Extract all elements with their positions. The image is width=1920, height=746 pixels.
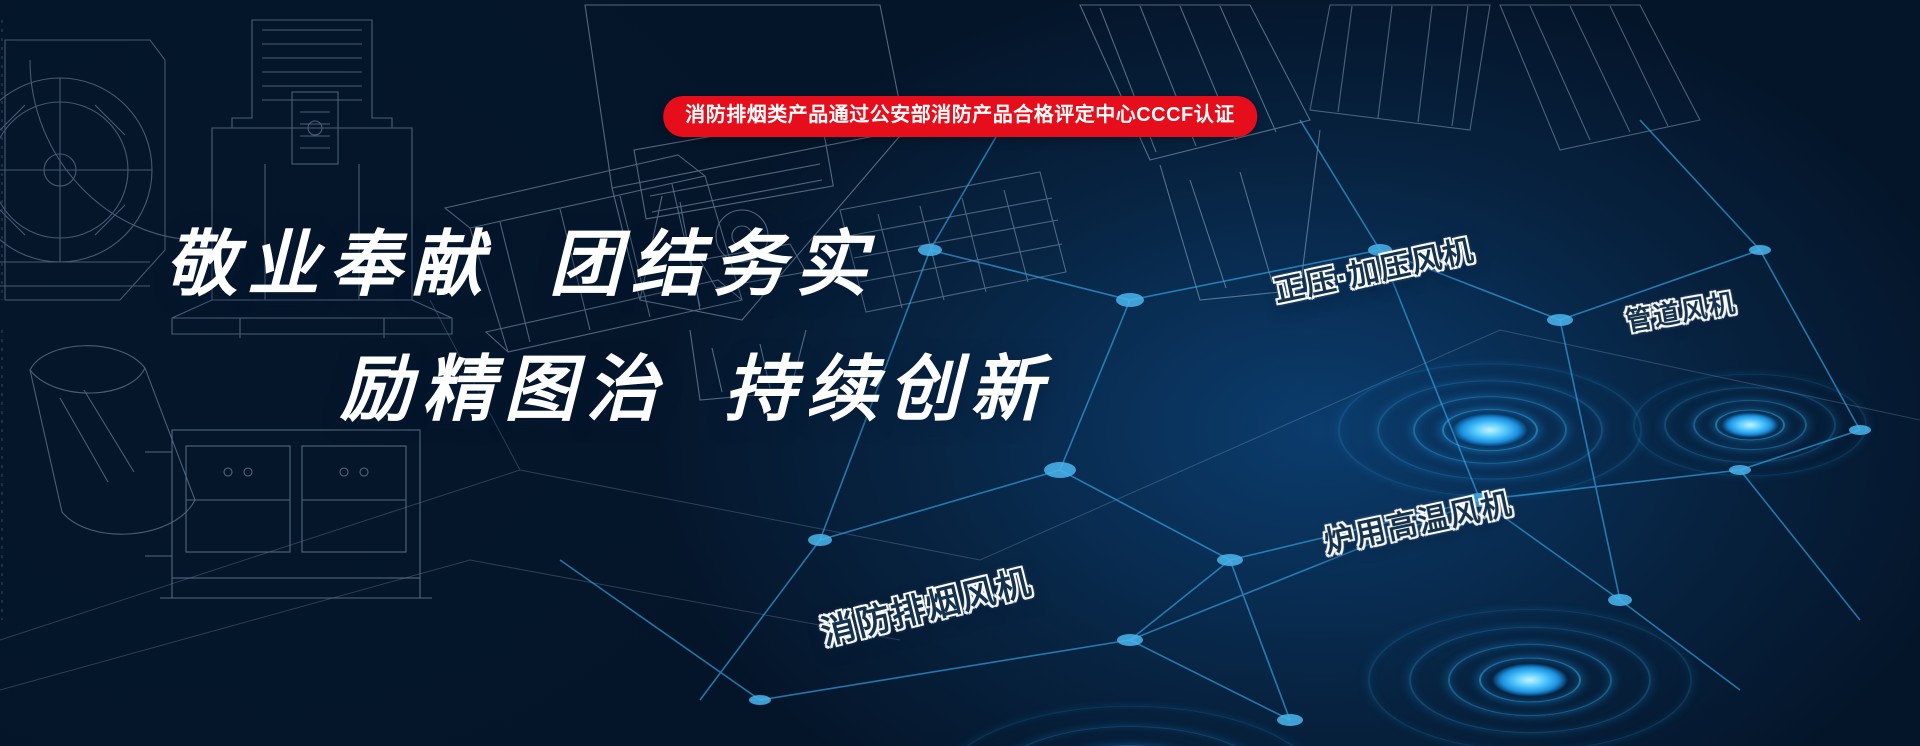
headline-line-2: 励精图治 持续创新 [340,330,1065,435]
product-label-3-text: 炉用高温风机 [1321,487,1516,559]
headline-line-1: 敬业奉献 团结务实 [165,205,1065,310]
product-label-2: 管道风机 [1623,283,1740,339]
headline-slogan: 敬业奉献 团结务实 励精图治 持续创新 [165,205,1065,435]
product-pod-4 [890,640,1370,746]
product-label-1-text: 正压·加压风机 [1272,234,1478,309]
headline-line-2-part-2: 持续创新 [724,330,1052,435]
certification-ribbon-text: 消防排烟类产品通过公安部消防产品合格评定中心CCCF认证 [685,104,1235,126]
product-label-3: 炉用高温风机 [1320,479,1517,562]
headline-line-1-part-2: 团结务实 [549,205,877,310]
product-pod-3 [1310,545,1750,746]
product-pod-2 [1600,330,1900,520]
product-label-4-text: 消防排烟风机 [817,563,1036,652]
headline-line-1-part-1: 敬业奉献 [165,205,493,310]
product-label-4: 消防排烟风机 [815,555,1036,655]
headline-line-2-part-1: 励精图治 [340,330,668,435]
promotional-banner: 正压·加压风机 管道风机 炉用高温风机 [0,0,1920,746]
product-label-2-text: 管道风机 [1624,287,1740,336]
product-label-1: 正压·加压风机 [1270,225,1479,310]
certification-ribbon: 消防排烟类产品通过公安部消防产品合格评定中心CCCF认证 [663,96,1257,137]
